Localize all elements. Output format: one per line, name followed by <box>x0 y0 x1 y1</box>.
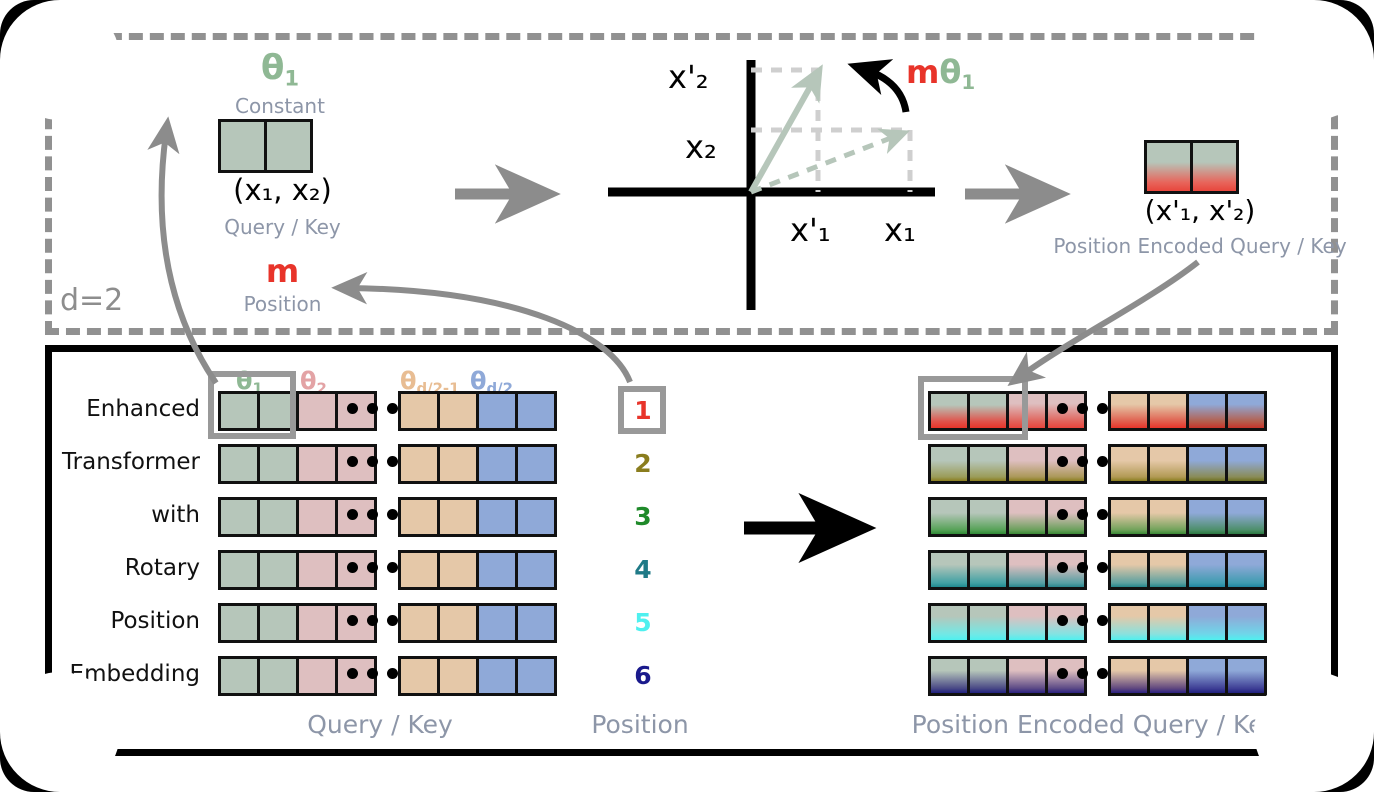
qk-cell <box>479 606 518 640</box>
enc-cell <box>1228 659 1264 693</box>
qk-cell <box>518 500 554 534</box>
qk-cell <box>299 394 338 428</box>
enc-cell <box>1150 447 1189 481</box>
ellipsis-row0 <box>347 403 398 414</box>
qk-cell <box>440 606 479 640</box>
qk-cell <box>221 500 260 534</box>
enc-cell <box>1150 659 1189 693</box>
qk-block2-row0 <box>398 391 557 431</box>
enc-ellipsis-row1 <box>1057 456 1108 467</box>
enc-cell <box>1150 394 1189 428</box>
qk-cell <box>518 659 554 693</box>
enc-cell <box>970 500 1009 534</box>
enc-cell <box>1009 500 1048 534</box>
output-cell-x1 <box>1147 143 1193 191</box>
diagram-canvas: d=2 θ1 Constant (x₁, x₂) Query / Key m P… <box>0 0 1374 792</box>
qk-cell <box>518 606 554 640</box>
output-caption-top: Position Encoded Query / Key <box>1045 234 1355 258</box>
row-label-5: Embedding <box>20 661 200 687</box>
position-number-5: 6 <box>598 661 688 690</box>
enc-cell <box>970 553 1009 587</box>
m-symbol: m <box>205 252 360 290</box>
qk-cell <box>518 447 554 481</box>
enc-ellipsis-row3 <box>1057 562 1108 573</box>
enc-cell <box>1111 553 1150 587</box>
row-label-4: Position <box>20 608 200 634</box>
position-number-3: 4 <box>598 555 688 584</box>
query-key-caption-top: Query / Key <box>195 215 370 239</box>
axis-label-x-original: x₁ <box>884 211 916 249</box>
qk-cell <box>260 553 299 587</box>
ellipsis-row4 <box>347 615 398 626</box>
enc-cell <box>1189 500 1228 534</box>
qk-cell <box>401 500 440 534</box>
qk-block2-row2 <box>398 497 557 537</box>
enc-cell <box>1150 553 1189 587</box>
qk-cell <box>518 553 554 587</box>
qk-cell <box>260 500 299 534</box>
constant-label: Constant <box>185 94 375 118</box>
enc-ellipsis-row0 <box>1057 403 1108 414</box>
enc-cell <box>1150 500 1189 534</box>
qk-cell <box>440 500 479 534</box>
qk-cell <box>440 394 479 428</box>
enc-cell <box>931 447 970 481</box>
qk-cell <box>221 553 260 587</box>
enc-cell <box>1111 394 1150 428</box>
rotation-angle-label: mθ1 <box>906 53 975 94</box>
qk-block2-row1 <box>398 444 557 484</box>
enc-cell <box>1228 394 1264 428</box>
qk-cell <box>440 553 479 587</box>
input-vector-label: (x₁, x₂) <box>195 173 370 207</box>
qk-cell <box>479 394 518 428</box>
enc-block2-row3 <box>1108 550 1267 590</box>
qk-cell <box>479 553 518 587</box>
enc-cell <box>970 606 1009 640</box>
m-position-group: m Position <box>205 252 360 316</box>
enc-cell <box>1009 659 1048 693</box>
caption-encoded: Position Encoded Query / Key <box>870 710 1320 739</box>
theta1-constant-group: θ1 Constant <box>185 48 375 118</box>
qk-cell <box>440 659 479 693</box>
qk-cell <box>260 447 299 481</box>
qk-block2-row5 <box>398 656 557 696</box>
output-vector-block <box>1144 140 1239 194</box>
row-label-2: with <box>20 502 200 528</box>
enc-cell <box>931 553 970 587</box>
enc-ellipsis-row5 <box>1057 668 1108 679</box>
enc-block2-row5 <box>1108 656 1267 696</box>
enc-cell <box>931 606 970 640</box>
dimension-label: d=2 <box>60 283 123 318</box>
enc-ellipsis-row4 <box>1057 615 1108 626</box>
enc-cell <box>1009 553 1048 587</box>
qk-cell <box>401 447 440 481</box>
input-cell-x2 <box>267 122 310 170</box>
ellipsis-row2 <box>347 509 398 520</box>
enc-cell <box>1189 553 1228 587</box>
enc-cell <box>931 500 970 534</box>
axis-label-x-rotated: x'₁ <box>790 211 831 249</box>
qk-block2-row4 <box>398 603 557 643</box>
qk-cell <box>260 659 299 693</box>
output-vector-label: (x'₁, x'₂) <box>1110 194 1290 227</box>
enc-cell <box>1189 606 1228 640</box>
ellipsis-row5 <box>347 668 398 679</box>
qk-cell <box>221 659 260 693</box>
highlight-box-qk-theta1 <box>208 371 296 439</box>
enc-cell <box>1111 606 1150 640</box>
enc-cell <box>931 659 970 693</box>
enc-cell <box>970 447 1009 481</box>
enc-block2-row2 <box>1108 497 1267 537</box>
enc-block2-row4 <box>1108 603 1267 643</box>
position-label-top: Position <box>205 292 360 316</box>
qk-cell <box>440 447 479 481</box>
row-label-0: Enhanced <box>20 396 200 422</box>
highlight-box-position-1 <box>618 386 666 434</box>
enc-cell <box>1228 447 1264 481</box>
qk-cell <box>299 500 338 534</box>
enc-cell <box>1150 606 1189 640</box>
enc-cell <box>1009 447 1048 481</box>
enc-cell <box>1189 394 1228 428</box>
qk-cell <box>299 659 338 693</box>
ellipsis-row3 <box>347 562 398 573</box>
qk-cell <box>479 659 518 693</box>
enc-cell <box>1111 500 1150 534</box>
enc-cell <box>1228 553 1264 587</box>
qk-cell <box>221 606 260 640</box>
qk-cell <box>299 553 338 587</box>
enc-block2-row1 <box>1108 444 1267 484</box>
position-number-1: 2 <box>598 449 688 478</box>
qk-cell <box>299 606 338 640</box>
highlight-box-encoded-theta1 <box>918 376 1028 440</box>
row-label-1: Transformer <box>20 449 200 475</box>
qk-cell <box>401 394 440 428</box>
caption-query-key: Query / Key <box>230 710 530 739</box>
enc-cell <box>970 659 1009 693</box>
position-number-4: 5 <box>598 608 688 637</box>
axis-label-y-original: x₂ <box>685 128 717 166</box>
qk-cell <box>479 447 518 481</box>
axis-label-y-rotated: x'₂ <box>668 58 709 96</box>
enc-cell <box>1111 447 1150 481</box>
qk-cell <box>260 606 299 640</box>
ellipsis-row1 <box>347 456 398 467</box>
theta1-symbol: θ1 <box>185 48 375 90</box>
qk-cell <box>401 553 440 587</box>
enc-cell <box>1228 606 1264 640</box>
qk-cell <box>401 659 440 693</box>
qk-cell <box>401 606 440 640</box>
enc-block2-row0 <box>1108 391 1267 431</box>
enc-cell <box>1111 659 1150 693</box>
qk-cell <box>479 500 518 534</box>
qk-block2-row3 <box>398 550 557 590</box>
qk-cell <box>221 447 260 481</box>
caption-position: Position <box>540 710 740 739</box>
qk-cell <box>518 394 554 428</box>
row-label-3: Rotary <box>20 555 200 581</box>
enc-ellipsis-row2 <box>1057 509 1108 520</box>
enc-cell <box>1189 447 1228 481</box>
output-cell-x2 <box>1193 143 1236 191</box>
qk-cell <box>299 447 338 481</box>
enc-cell <box>1189 659 1228 693</box>
enc-cell <box>1228 500 1264 534</box>
enc-cell <box>1009 606 1048 640</box>
input-cell-x1 <box>221 122 267 170</box>
input-vector-block <box>218 119 313 173</box>
position-number-2: 3 <box>598 502 688 531</box>
